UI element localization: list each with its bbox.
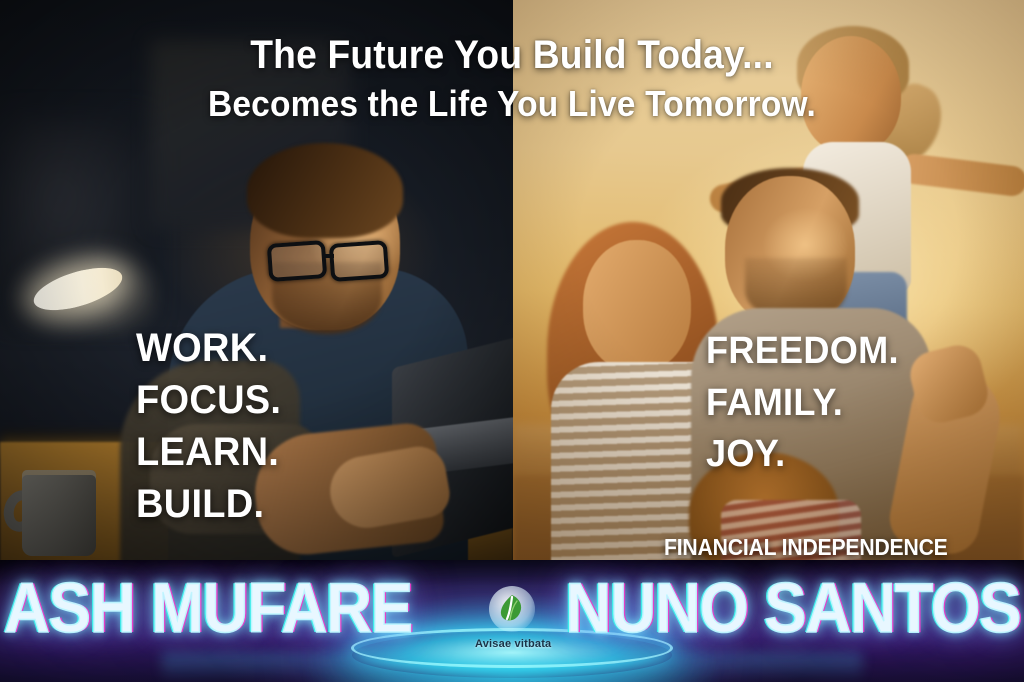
brand-logo: Avisae vitbata [475,586,549,650]
neon-name-banner: ASH MUFARE NUNO SANTOS Avisae vitbata [0,560,1024,682]
right-keyword-2: FAMILY. [706,378,899,430]
financial-independence-label: FINANCIAL INDEPENDENCE [664,534,948,561]
left-keyword-4: BUILD. [136,478,281,530]
left-keyword-1: WORK. [136,322,281,374]
presenter-name-left: ASH MUFARE [4,574,412,645]
right-keyword-3: JOY. [706,429,899,481]
right-keyword-list: FREEDOM. FAMILY. JOY. [706,326,899,481]
left-keyword-list: WORK. FOCUS. LEARN. BUILD. [136,322,281,530]
headline-line-1: The Future You Build Today... [36,32,988,79]
left-keyword-3: LEARN. [136,426,281,478]
headline-line-2: Becomes the Life You Live Tomorrow. [36,83,988,125]
presenter-name-right: NUNO SANTOS [566,574,1021,645]
headline: The Future You Build Today... Becomes th… [36,32,988,126]
green-leaf-icon [489,586,535,632]
poster-canvas: The Future You Build Today... Becomes th… [0,0,1024,682]
left-keyword-2: FOCUS. [136,374,281,426]
brand-logo-text: Avisae vitbata [475,638,549,650]
right-keyword-1: FREEDOM. [706,326,899,378]
